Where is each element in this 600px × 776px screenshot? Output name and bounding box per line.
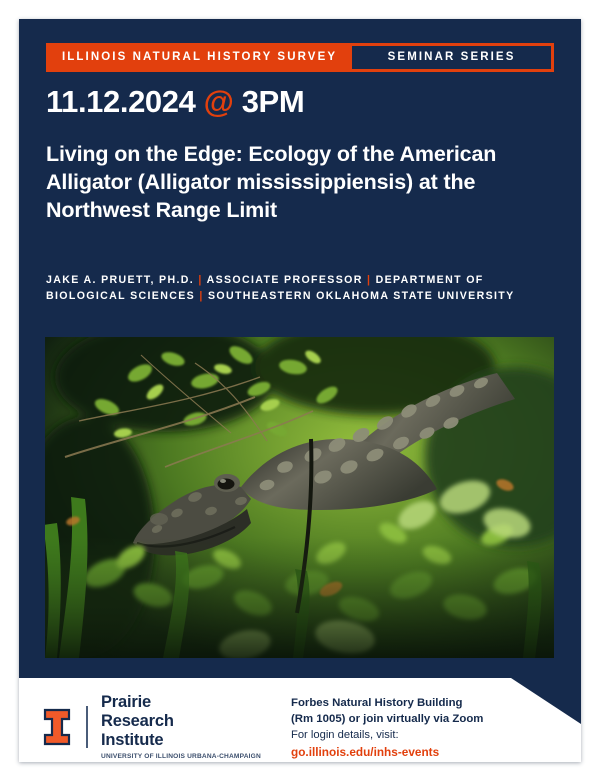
venue-room-zoom: (Rm 1005) or join virtually via Zoom (291, 711, 541, 727)
banner-series-box: SEMINAR SERIES (351, 45, 552, 70)
venue-info: Forbes Natural History Building (Rm 1005… (291, 695, 541, 761)
speaker-byline: JAKE A. PRUETT, PH.D. | ASSOCIATE PROFES… (46, 272, 556, 305)
at-symbol: @ (204, 84, 234, 119)
venue-building: Forbes Natural History Building (291, 695, 541, 711)
byline-separator: | (198, 274, 202, 286)
event-time: 3PM (242, 84, 305, 119)
byline-separator: | (199, 290, 203, 302)
logo-text-column: Prairie Research Institute UNIVERSITY OF… (101, 693, 261, 760)
poster-footer: Prairie Research Institute UNIVERSITY OF… (19, 678, 581, 762)
talk-title: Living on the Edge: Ecology of the Ameri… (46, 141, 516, 225)
login-details-label: For login details, visit: (291, 728, 541, 744)
logo-divider (86, 706, 88, 748)
prairie-research-institute-logo: Prairie Research Institute UNIVERSITY OF… (43, 693, 261, 760)
illinois-block-i-icon (43, 708, 71, 746)
event-datetime: 11.12.2024 @ 3PM (46, 85, 304, 119)
byline-separator: | (367, 274, 371, 286)
events-url-link[interactable]: go.illinois.edu/inhs-events (291, 745, 541, 761)
speaker-role: ASSOCIATE PROFESSOR (207, 274, 363, 286)
banner-series-label: SEMINAR SERIES (388, 52, 516, 64)
speaker-name: JAKE A. PRUETT, PH.D. (46, 274, 194, 286)
series-banner: ILLINOIS NATURAL HISTORY SURVEY SEMINAR … (46, 43, 554, 72)
seminar-poster: ILLINOIS NATURAL HISTORY SURVEY SEMINAR … (19, 19, 581, 762)
banner-organization: ILLINOIS NATURAL HISTORY SURVEY (46, 43, 351, 72)
speaker-affiliation: SOUTHEASTERN OKLAHOMA STATE UNIVERSITY (208, 290, 515, 302)
poster-main-panel: ILLINOIS NATURAL HISTORY SURVEY SEMINAR … (19, 19, 581, 678)
institute-tagline: UNIVERSITY OF ILLINOIS URBANA-CHAMPAIGN (101, 753, 261, 760)
alligator-photo (45, 337, 554, 658)
event-date: 11.12.2024 (46, 84, 195, 119)
institute-name: Prairie Research Institute (101, 693, 226, 749)
banner-organization-label: ILLINOIS NATURAL HISTORY SURVEY (62, 52, 337, 64)
